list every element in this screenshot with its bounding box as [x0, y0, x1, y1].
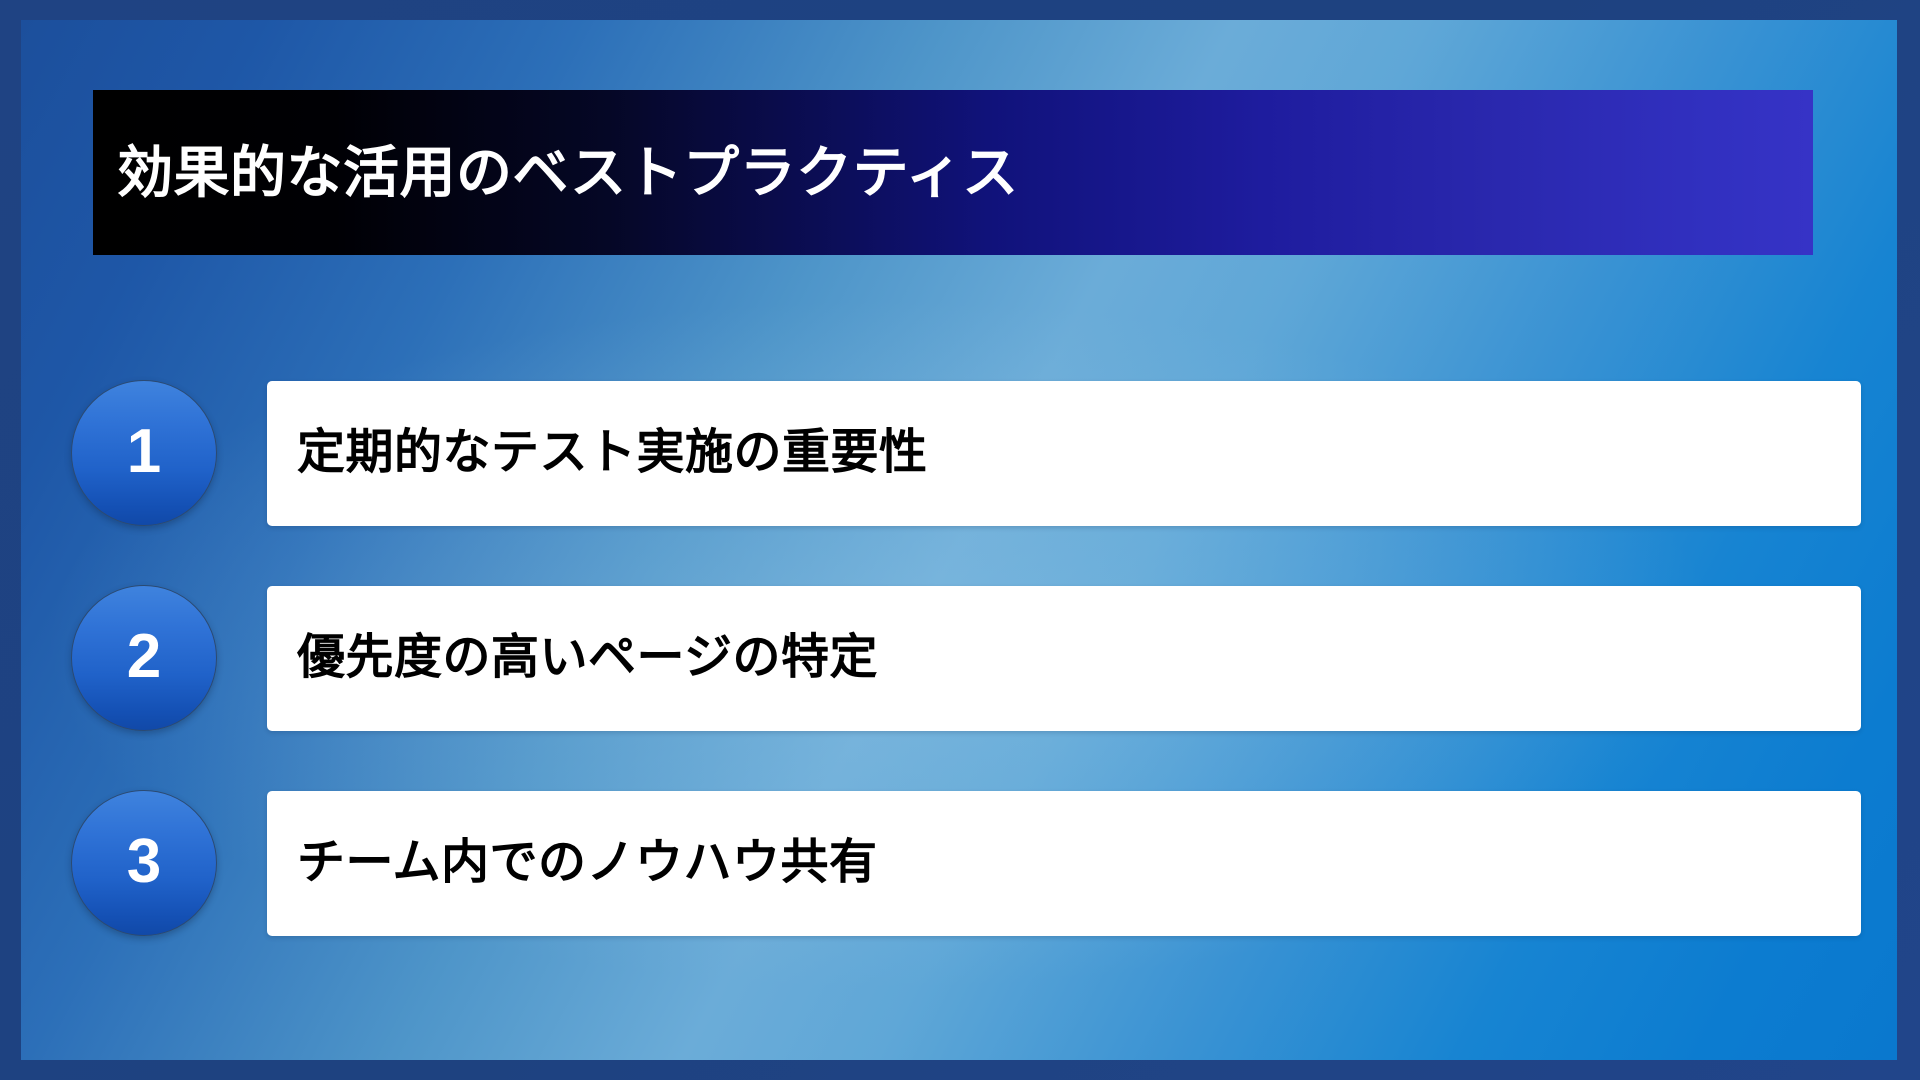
best-practice-list: 1 定期的なテスト実施の重要性 2 優先度の高いページの特定 3 [21, 20, 1897, 1060]
list-item[interactable]: 2 優先度の高いページの特定 [71, 583, 1861, 733]
practice-card[interactable]: チーム内でのノウハウ共有 [267, 791, 1861, 936]
practice-card-label: チーム内でのノウハウ共有 [297, 835, 878, 890]
step-number-badge: 2 [71, 585, 217, 731]
list-item[interactable]: 1 定期的なテスト実施の重要性 [71, 378, 1861, 528]
step-number-badge: 1 [71, 380, 217, 526]
step-number-label: 3 [127, 831, 161, 893]
slide-surface: 効果的な活用のベストプラクティス 1 定期的なテスト実施の重要性 2 優先度の高… [21, 20, 1897, 1060]
practice-card[interactable]: 優先度の高いページの特定 [267, 586, 1861, 731]
practice-card-label: 定期的なテスト実施の重要性 [297, 425, 928, 480]
practice-card-label: 優先度の高いページの特定 [297, 630, 878, 685]
practice-card[interactable]: 定期的なテスト実施の重要性 [267, 381, 1861, 526]
step-number-label: 1 [127, 421, 161, 483]
slide-outer-frame: 効果的な活用のベストプラクティス 1 定期的なテスト実施の重要性 2 優先度の高… [0, 0, 1920, 1080]
step-number-badge: 3 [71, 790, 217, 936]
list-item[interactable]: 3 チーム内でのノウハウ共有 [71, 788, 1861, 938]
step-number-label: 2 [127, 626, 161, 688]
